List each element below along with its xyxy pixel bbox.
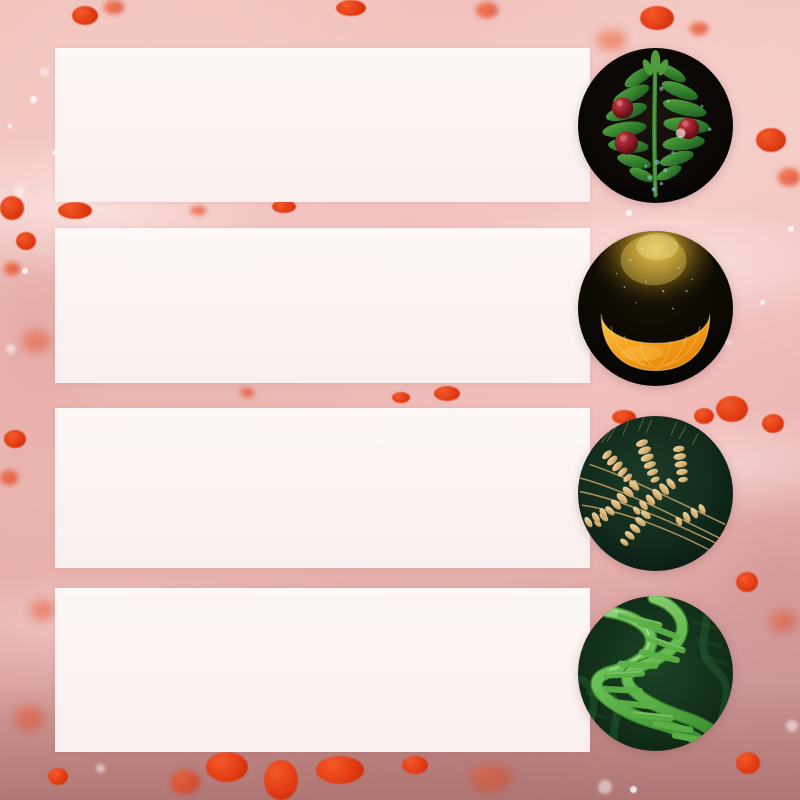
ingredient-panel-tamarind-seed-extract — [55, 48, 590, 202]
ingredient-panel-orange-essential-oil — [55, 228, 590, 383]
wheat-stalks-photo — [578, 416, 733, 571]
tamarind-sprig-photo — [578, 48, 733, 203]
infographic-canvas — [0, 0, 800, 800]
dna-helix-photo — [578, 596, 733, 751]
orange-segment-photo — [578, 231, 733, 386]
ingredient-panel-cimentrio-complex — [55, 588, 590, 752]
ingredient-panel-wheat-microproteins — [55, 408, 590, 568]
